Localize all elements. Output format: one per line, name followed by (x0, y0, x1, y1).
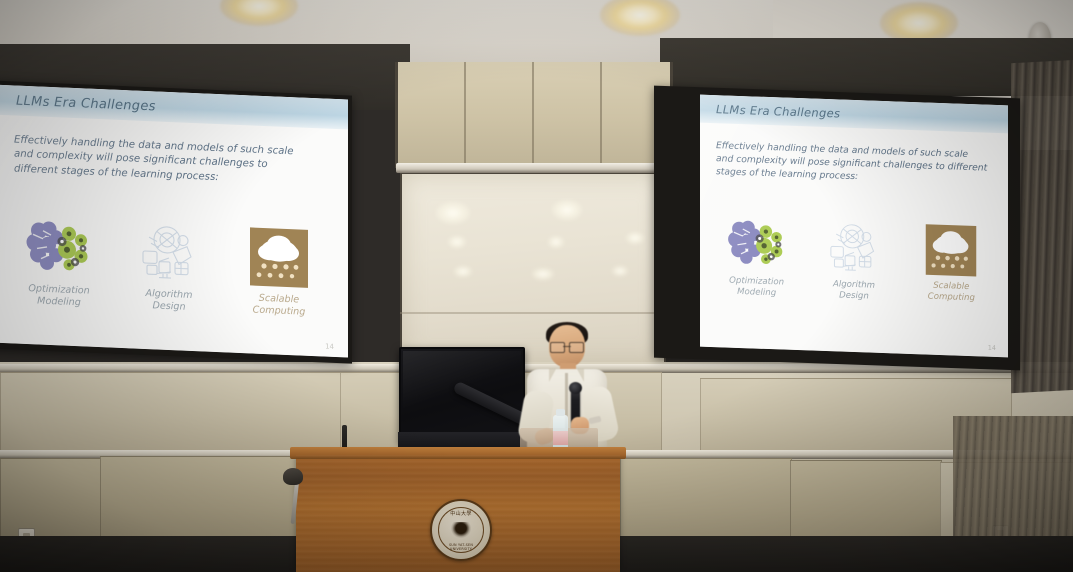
slide-right: LLMs Era Challenges Effectively handling… (700, 95, 1008, 358)
icon-caption-scalable-right: Scalable Computing (928, 281, 975, 304)
icon-optimization-modeling-right: Optimization Modeling (714, 215, 800, 299)
icon-caption-algorithm-left: Algorithm Design (146, 288, 193, 314)
icon-caption-optimization-right: Optimization Modeling (729, 276, 784, 299)
emblem-text-chinese: 中山大學 (439, 510, 483, 517)
podium: 中山大學 SUN YAT-SEN UNIVERSITY (296, 455, 620, 572)
whiteboard-seam (400, 312, 662, 314)
icon-caption-optimization-left: Optimization Modeling (28, 283, 89, 310)
wall-panel-lower-4 (790, 460, 942, 548)
sun-yat-sen-university-seal: 中山大學 SUN YAT-SEN UNIVERSITY (430, 499, 492, 561)
right-projection-screen[interactable]: LLMs Era Challenges Effectively handling… (700, 95, 1008, 358)
slide-left: LLMs Era Challenges Effectively handling… (0, 84, 348, 357)
presenter-collar-left (549, 369, 556, 382)
slide-page-number-right: 14 (988, 344, 996, 352)
brain-gears-icon (725, 215, 789, 273)
cloud-rain-icon (924, 222, 978, 278)
microphone-capsule (569, 382, 582, 394)
wall-panel-band-left (0, 372, 342, 452)
slide-paragraph-right: Effectively handling the data and models… (716, 139, 988, 188)
icon-scalable-computing-right: Scalable Computing (908, 222, 994, 306)
algorithm-sketch-icon (822, 219, 886, 277)
presenter-glasses (550, 342, 584, 351)
slide-icon-row-right: Optimization Modeling (708, 215, 1000, 307)
left-projection-screen[interactable]: LLMs Era Challenges Effectively handling… (0, 84, 348, 357)
slide-paragraph-left: Effectively handling the data and models… (14, 134, 314, 190)
icon-caption-scalable-left: Scalable Computing (253, 293, 306, 319)
brain-gears-icon (23, 216, 95, 281)
emblem-text-english: SUN YAT-SEN UNIVERSITY (439, 543, 483, 551)
wall-panel-lower-1 (0, 458, 102, 542)
wall-panel-upper-center (395, 62, 673, 168)
whiteboard-rail (396, 163, 666, 173)
slide-body-right: Effectively handling the data and models… (700, 123, 1008, 358)
icon-algorithm-design-left: Algorithm Design (121, 220, 217, 315)
icon-caption-algorithm-right: Algorithm Design (833, 279, 875, 302)
acoustic-slat-panel-lower (953, 416, 1073, 536)
slide-icon-row-left: Optimization Modeling (4, 215, 334, 320)
algorithm-sketch-icon (133, 220, 205, 285)
wall-panel-lower-3 (620, 458, 792, 546)
gooseneck-microphone (283, 468, 307, 524)
wall-panel-lower-2 (100, 456, 302, 542)
lecture-hall-photo: LLMs Era Challenges Effectively handling… (0, 0, 1073, 572)
slide-title-right: LLMs Era Challenges (716, 102, 840, 120)
slide-title-left: LLMs Era Challenges (16, 93, 156, 114)
slide-body-left: Effectively handling the data and models… (0, 114, 348, 357)
icon-algorithm-design-right: Algorithm Design (811, 218, 897, 302)
cloud-rain-icon (248, 225, 310, 290)
icon-scalable-computing-left: Scalable Computing (231, 225, 327, 320)
slide-page-number-left: 14 (325, 343, 334, 351)
emblem-crest (451, 522, 471, 538)
acoustic-slat-panel (1011, 60, 1073, 393)
presenter-collar-right (577, 369, 584, 382)
icon-optimization-modeling-left: Optimization Modeling (11, 215, 107, 310)
